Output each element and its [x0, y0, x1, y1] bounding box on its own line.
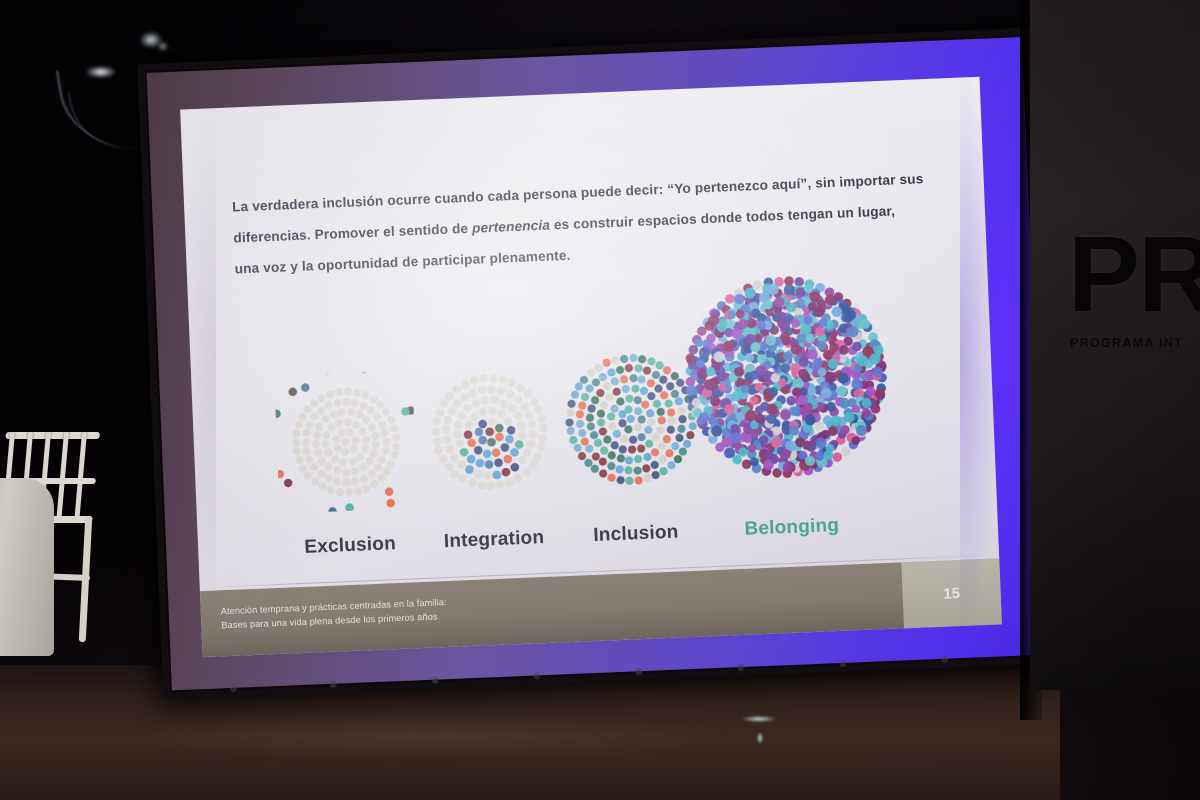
photo-scene: La verdadera inclusión ocurre cuando cad… — [0, 0, 1200, 800]
diagram-integration — [414, 356, 566, 508]
page-number: 15 — [943, 585, 960, 603]
inclusion-spectrum-diagram — [213, 289, 981, 520]
diagram-exclusion — [274, 370, 418, 514]
page-number-box: 15 — [901, 558, 1002, 628]
label-inclusion: Inclusion — [546, 520, 727, 549]
stage-light-core-icon — [158, 42, 168, 51]
chair-cover — [0, 478, 54, 656]
banner-bottom-line-1: Instituto de — [1086, 688, 1135, 690]
label-belonging: Belonging — [701, 513, 882, 542]
diagram-belonging — [665, 256, 906, 497]
floor-light-spark — [757, 732, 763, 744]
presentation-slide: La verdadera inclusión ocurre cuando cad… — [180, 77, 1002, 657]
floor-light-reflection — [742, 716, 776, 722]
screen-frame: La verdadera inclusión ocurre cuando cad… — [137, 28, 1056, 700]
footer-text: Atención temprana y prácticas centradas … — [220, 595, 447, 632]
floor-sheen — [120, 716, 740, 756]
event-banner: PR PROGRAMA INT Instituto de Salud Públi… — [1030, 0, 1200, 690]
truss-highlight — [86, 66, 116, 78]
chair — [0, 424, 116, 654]
banner-subtitle: PROGRAMA INT — [1070, 336, 1183, 350]
projection-screen: La verdadera inclusión ocurre cuando cad… — [137, 28, 1043, 704]
banner-logo-text: PR — [1068, 228, 1200, 321]
